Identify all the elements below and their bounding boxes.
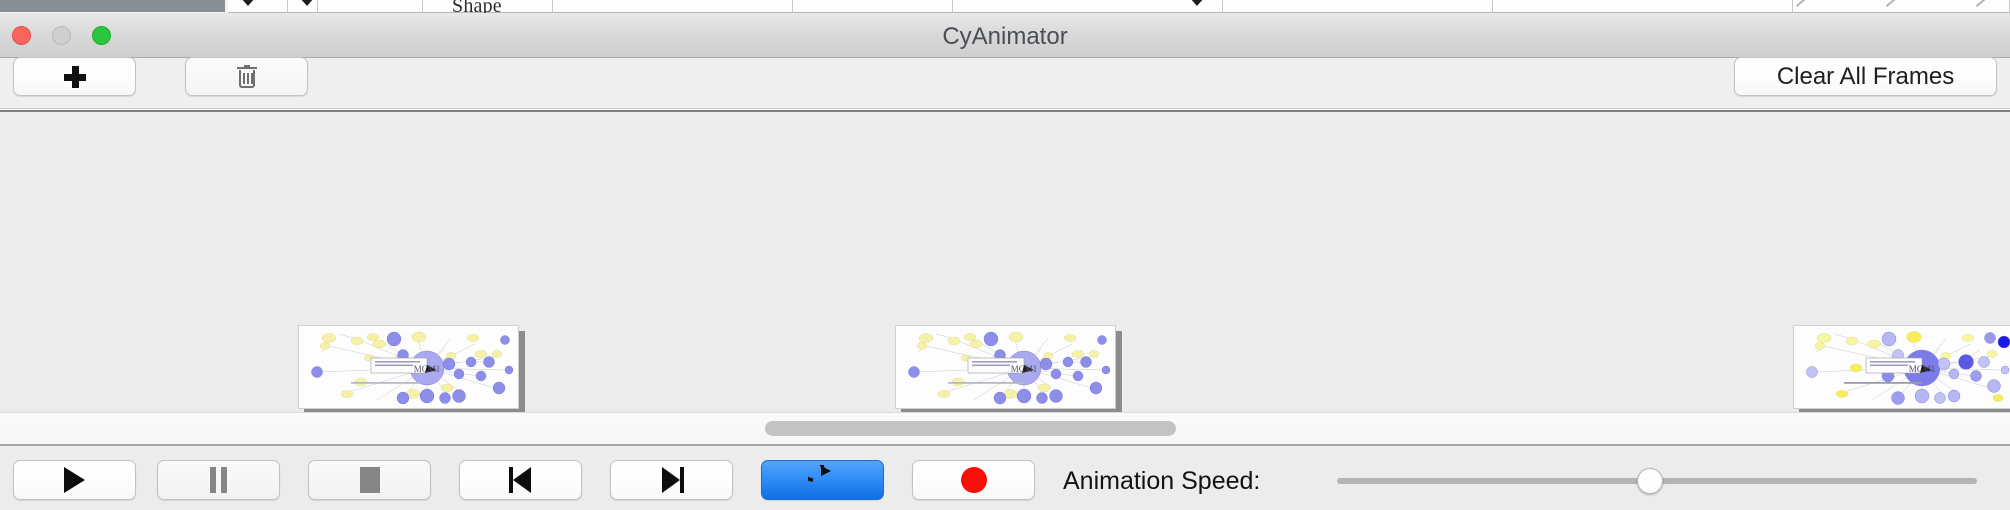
skip-back-button[interactable] (459, 460, 582, 500)
clear-all-frames-button[interactable]: Clear All Frames (1734, 57, 1997, 96)
trash-icon (237, 65, 257, 89)
svg-text:MCM1: MCM1 (414, 364, 441, 374)
chevron-down-icon (1190, 0, 1204, 6)
pause-icon (210, 467, 228, 493)
background-shape-label: Shape (452, 0, 502, 14)
add-frame-button[interactable] (13, 57, 136, 96)
toolbar-divider (0, 108, 2010, 109)
network-graph-thumbnail: MCM1 (896, 326, 1116, 409)
horizontal-scrollbar-thumb[interactable] (765, 421, 1176, 436)
cyanimator-window: Shape CyAnimator Clear All Frames (0, 0, 2010, 510)
play-icon (64, 467, 85, 493)
svg-text:MCM1: MCM1 (1011, 364, 1038, 374)
record-button[interactable] (912, 460, 1035, 500)
network-graph-thumbnail: MCM1 (299, 326, 519, 409)
loop-toggle-button[interactable] (761, 460, 884, 500)
network-graph-thumbnail: MCM1 (1794, 326, 2010, 409)
stop-icon (360, 467, 380, 493)
record-icon (961, 467, 987, 493)
animation-speed-label: Animation Speed: (1063, 467, 1260, 496)
window-title: CyAnimator (0, 23, 2010, 51)
loop-icon (808, 465, 838, 495)
title-bar: CyAnimator (0, 13, 2010, 58)
frame-thumbnail: MCM1 (298, 325, 519, 409)
clear-all-frames-label: Clear All Frames (1777, 63, 1954, 91)
background-window-strip: Shape (0, 0, 2010, 14)
plus-icon (64, 66, 86, 88)
skip-back-icon (509, 467, 533, 493)
frame-thumbnail: MCM1 (895, 325, 1116, 409)
chevron-down-icon (300, 0, 314, 6)
play-button[interactable] (13, 460, 136, 500)
pause-button[interactable] (157, 460, 280, 500)
svg-text:MCM1: MCM1 (1909, 364, 1936, 374)
skip-forward-icon (660, 467, 684, 493)
stop-button[interactable] (308, 460, 431, 500)
chevron-down-icon (241, 0, 255, 6)
frame-thumbnail: MCM1 (1793, 325, 2010, 409)
skip-forward-button[interactable] (610, 460, 733, 500)
timeline-panel[interactable]: MCM1 (0, 112, 2010, 412)
delete-frame-button[interactable] (185, 57, 308, 96)
animation-speed-slider-thumb[interactable] (1637, 468, 1663, 494)
